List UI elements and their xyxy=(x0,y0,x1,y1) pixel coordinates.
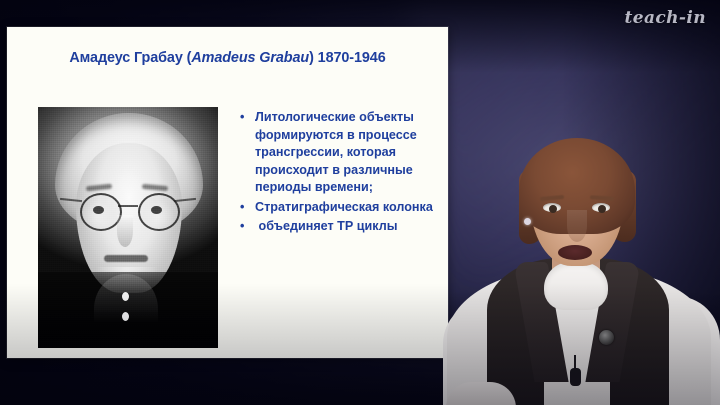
presentation-slide: Амадеус Грабау (Amadeus Grabau) 1870-194… xyxy=(7,27,448,358)
bullet-text-2: Стратиграфическая колонка xyxy=(255,200,433,214)
portrait-photo xyxy=(38,107,218,348)
bullet-item-3: • объединяет ТР циклы xyxy=(238,218,438,236)
slide-title: Амадеус Грабау (Amadeus Grabau) 1870-194… xyxy=(7,50,448,66)
slide-title-latin-name: Amadeus Grabau xyxy=(191,50,309,66)
portrait-film-grain xyxy=(38,107,218,348)
bullet-marker-icon: • xyxy=(240,218,244,236)
teach-in-logo: teach-in xyxy=(625,8,706,28)
bullet-item-2: •Стратиграфическая колонка xyxy=(238,199,438,217)
slide-title-prefix: Амадеус Грабау ( xyxy=(69,50,191,66)
bullet-text-3: объединяет ТР циклы xyxy=(255,219,397,233)
video-frame: teach-in Амадеус Грабау (Amadeus Grabau)… xyxy=(0,0,720,405)
bullet-text-1: Литологические объекты формируются в про… xyxy=(255,110,420,194)
bullet-marker-icon: • xyxy=(240,109,244,127)
slide-title-suffix: ) 1870-1946 xyxy=(309,50,386,66)
bullet-item-1: •Литологические объекты формируются в пр… xyxy=(238,109,438,197)
bullet-list: •Литологические объекты формируются в пр… xyxy=(238,109,438,238)
bullet-marker-icon: • xyxy=(240,199,244,217)
